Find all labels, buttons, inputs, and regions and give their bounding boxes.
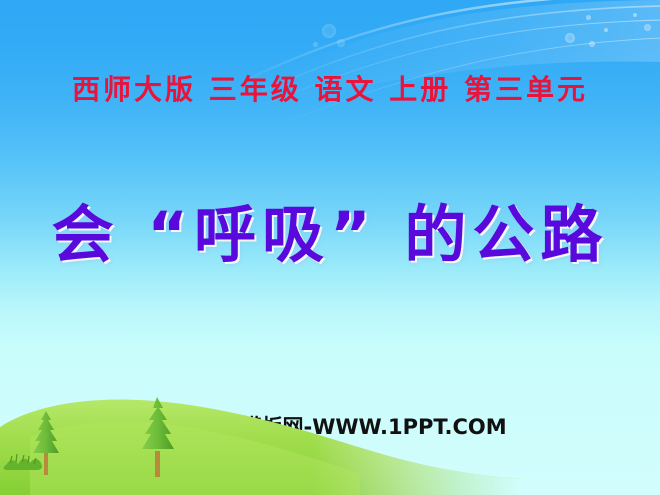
bubble-9: [633, 13, 637, 17]
bubble-3: [604, 28, 608, 32]
slide-subtitle: 西师大版 三年级 语文 上册 第三单元: [0, 68, 660, 108]
tree-right-trunk: [155, 451, 160, 477]
bubble-5: [322, 24, 336, 38]
scenery-illustration: [0, 375, 660, 495]
bubble-2: [589, 41, 595, 47]
bubble-4: [586, 15, 591, 20]
slide-title: 会 “呼吸” 的公路: [0, 184, 660, 274]
sky-ribbon-outer: [250, 0, 660, 78]
presentation-slide: 西师大版 三年级 语文 上册 第三单元 会 “呼吸” 的公路 第一PPT模板网-…: [0, 0, 660, 495]
bubble-1: [565, 33, 575, 43]
bubble-6: [337, 39, 345, 47]
tree-left-trunk: [44, 453, 48, 475]
bubble-7: [313, 42, 318, 47]
bubble-8: [644, 24, 651, 31]
